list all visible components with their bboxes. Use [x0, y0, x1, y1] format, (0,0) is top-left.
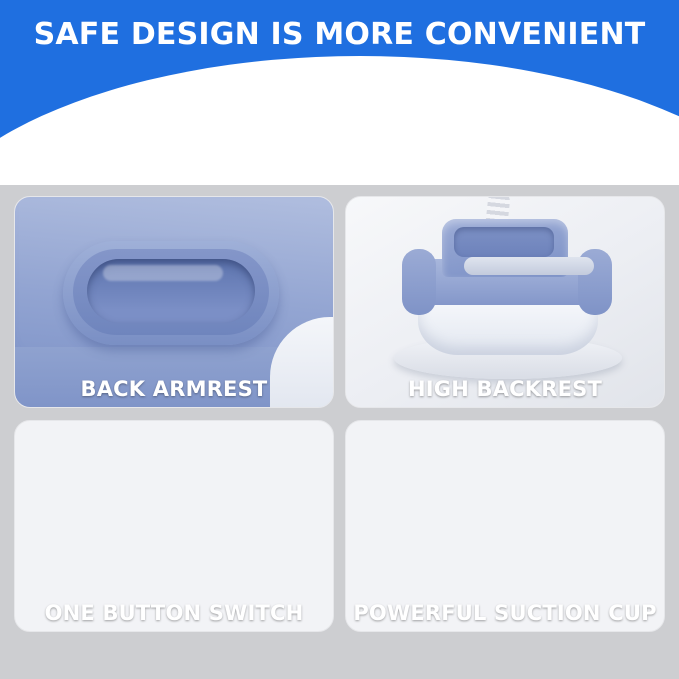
page-title: SAFE DESIGN IS MORE CONVENIENT — [0, 17, 679, 52]
feature-grid: BACK ARMREST HIGH BACKREST — [14, 196, 665, 636]
card2-armrest-left — [402, 249, 436, 315]
card4-rib — [426, 420, 585, 559]
card2-backrest-pad — [454, 227, 554, 257]
card4-rib — [426, 420, 585, 559]
product-infographic: SAFE DESIGN IS MORE CONVENIENT Humanized… — [0, 0, 679, 679]
feature-label-high-backrest: HIGH BACKREST — [346, 377, 664, 401]
card1-handle-highlight — [103, 265, 223, 281]
feature-card-powerful-suction-cup: POWERFUL SUCTION CUP — [345, 420, 665, 632]
card4-rib — [426, 420, 585, 559]
card2-front-bar — [464, 257, 594, 275]
feature-label-powerful-suction-cup: POWERFUL SUCTION CUP — [346, 601, 664, 625]
feature-card-one-button-switch: ONE BUTTON SWITCH — [14, 420, 334, 632]
subheadline-line-2: safer and more convenient to use — [0, 139, 679, 170]
card4-rib — [426, 420, 585, 559]
feature-card-back-armrest: BACK ARMREST — [14, 196, 334, 408]
feature-label-back-armrest: BACK ARMREST — [15, 377, 333, 401]
feature-card-high-backrest: HIGH BACKREST — [345, 196, 665, 408]
subheadline-line-1: Humanized design, — [229, 110, 450, 136]
subheadline: Humanized design, safer and more conveni… — [0, 108, 679, 170]
feature-label-one-button-switch: ONE BUTTON SWITCH — [15, 601, 333, 625]
